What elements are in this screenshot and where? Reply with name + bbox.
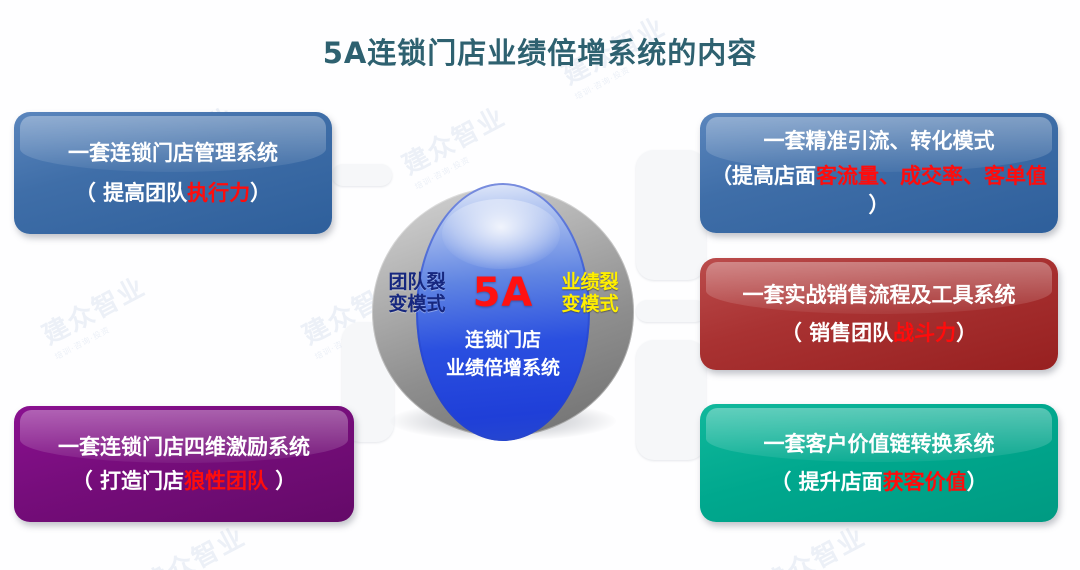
content-box-top-right[interactable]: 一套精准引流、转化模式 （提高店面客流量、成交率、客单值 ） <box>700 113 1058 233</box>
box-line-2-highlight: 获客价值 <box>883 470 967 494</box>
box-line-1: 一套实战销售流程及工具系统 <box>743 282 1016 308</box>
box-line-2-highlight: 狼性团队 <box>184 469 268 493</box>
box-line-2-highlight: 执行力 <box>187 181 250 205</box>
box-line-2-pre: （ 提高团队 <box>75 181 187 205</box>
content-box-middle-right[interactable]: 一套实战销售流程及工具系统 （ 销售团队战斗力） <box>700 258 1058 370</box>
box-line-2: （提高店面客流量、成交率、客单值 <box>711 163 1047 189</box>
box-line-3: ） <box>869 192 890 218</box>
watermark-sub: 培训·咨询·投资 <box>773 550 877 570</box>
watermark: 建众智业 培训·咨询·投资 <box>755 517 877 570</box>
box-line-2-pre: （ 打造门店 <box>72 469 184 493</box>
box-line-1: 一套客户价值链转换系统 <box>764 431 995 457</box>
watermark-sub: 培训·咨询·投资 <box>53 300 157 362</box>
connector-middle-right <box>636 300 706 322</box>
box-line-2: （ 打造门店狼性团队 ） <box>72 468 297 494</box>
connector-bottom-right <box>636 340 706 460</box>
sphere-core-subtitle-line1: 连锁门店 <box>372 327 634 355</box>
box-line-2-post: ） <box>967 470 988 494</box>
connector-top-right <box>636 150 706 280</box>
content-box-top-left[interactable]: 一套连锁门店管理系统 （ 提高团队执行力） <box>14 112 332 234</box>
watermark: 建众智业 培训·咨询·投资 <box>395 97 517 193</box>
watermark-text: 建众智业 <box>38 272 151 351</box>
box-line-2-pre: （ 提升店面 <box>770 470 882 494</box>
watermark: 建众智业 培训·咨询·投资 <box>135 517 257 570</box>
box-line-2-highlight: 战斗力 <box>893 321 956 345</box>
content-box-bottom-left[interactable]: 一套连锁门店四维激励系统 （ 打造门店狼性团队 ） <box>14 406 354 522</box>
sphere-core-subtitle: 连锁门店 业绩倍增系统 <box>372 327 634 382</box>
center-sphere-diagram[interactable]: 团队裂 变模式 业绩裂 变模式 5A 连锁门店 业绩倍增系统 <box>372 187 634 447</box>
connector-top-left <box>332 164 392 186</box>
watermark-text: 建众智业 <box>758 522 871 570</box>
page-title: 5A连锁门店业绩倍增系统的内容 <box>0 30 1080 72</box>
watermark: 建众智业 培训·咨询·投资 <box>35 267 157 363</box>
box-line-2-post: ） <box>268 469 296 493</box>
box-line-2: （ 提升店面获客价值） <box>770 469 987 495</box>
box-line-2-pre: （ 销售团队 <box>781 321 893 345</box>
watermark-sub: 培训·咨询·投资 <box>153 550 257 570</box>
box-line-1: 一套连锁门店管理系统 <box>68 140 278 166</box>
watermark-text: 建众智业 <box>138 522 251 570</box>
content-box-bottom-right[interactable]: 一套客户价值链转换系统 （ 提升店面获客价值） <box>700 404 1058 522</box>
box-line-1: 一套连锁门店四维激励系统 <box>58 434 310 460</box>
box-line-2-post: ） <box>250 181 271 205</box>
box-line-1: 一套精准引流、转化模式 <box>764 128 995 154</box>
box-line-2-highlight: 客流量、成交率、客单值 <box>816 164 1047 188</box>
watermark-text: 建众智业 <box>398 102 511 181</box>
sphere-core-subtitle-line2: 业绩倍增系统 <box>372 355 634 383</box>
box-line-2-pre: （提高店面 <box>711 164 816 188</box>
box-line-2-post: ） <box>956 321 977 345</box>
slide-canvas: 建众智业 培训·咨询·投资 建众智业 培训·咨询·投资 建众智业 培训·咨询·投… <box>0 0 1080 570</box>
box-line-2: （ 销售团队战斗力） <box>781 320 977 346</box>
box-line-2: （ 提高团队执行力） <box>75 180 271 206</box>
sphere-core-badge: 5A <box>372 270 634 316</box>
